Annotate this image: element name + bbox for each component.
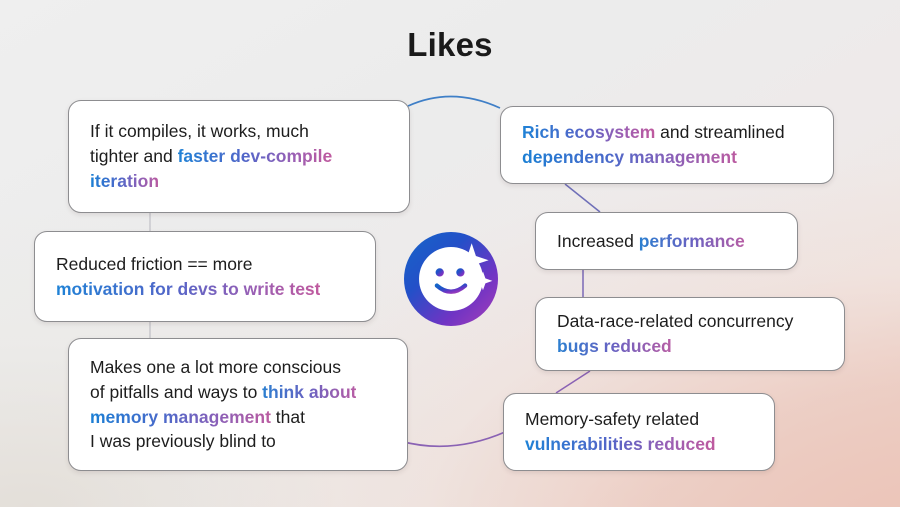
card-friction-line1: Reduced friction == more [56, 254, 253, 274]
card-conscious-highlight2: memory management [90, 407, 271, 427]
card-ecosystem-text: Rich ecosystem and streamlined dependenc… [522, 120, 785, 170]
connector-datarace-memsafety [556, 371, 590, 393]
card-ecosystem-highlight2: dependency management [522, 147, 737, 167]
card-compiles-highlight2: iteration [90, 171, 159, 191]
card-conscious-line1: Makes one a lot more conscious [90, 357, 341, 377]
card-ecosystem-line1-plain: and streamlined [655, 122, 784, 142]
card-ecosystem-highlight1: Rich ecosystem [522, 122, 655, 142]
slide-canvas: Likes If it compiles, it works, much tig… [0, 0, 900, 507]
card-compiles-text: If it compiles, it works, much tighter a… [90, 119, 332, 194]
connector-top-arc [408, 96, 500, 108]
card-conscious-text: Makes one a lot more conscious of pitfal… [90, 355, 356, 454]
card-compiles[interactable]: If it compiles, it works, much tighter a… [68, 100, 410, 213]
connector-ecosystem-performance [565, 184, 600, 212]
card-conscious[interactable]: Makes one a lot more conscious of pitfal… [68, 338, 408, 471]
connector-bottom-arc [400, 432, 505, 446]
card-ecosystem[interactable]: Rich ecosystem and streamlined dependenc… [500, 106, 834, 184]
card-datarace-text: Data-race-related concurrency bugs reduc… [557, 309, 793, 359]
card-compiles-highlight1: faster dev-compile [178, 146, 333, 166]
card-conscious-line4: I was previously blind to [90, 431, 276, 451]
card-performance-plain: Increased [557, 231, 639, 251]
card-performance[interactable]: Increased performance [535, 212, 798, 270]
card-friction[interactable]: Reduced friction == more motivation for … [34, 231, 376, 322]
card-compiles-line1: If it compiles, it works, much [90, 121, 309, 141]
card-performance-text: Increased performance [557, 229, 745, 254]
card-conscious-highlight1: think about [262, 382, 356, 402]
card-compiles-line2-plain: tighter and [90, 146, 178, 166]
card-datarace-highlight: bugs reduced [557, 336, 672, 356]
card-datarace-line1: Data-race-related concurrency [557, 311, 793, 331]
card-conscious-line3-plain: that [271, 407, 305, 427]
card-memsafety-line1: Memory-safety related [525, 409, 699, 429]
card-friction-text: Reduced friction == more motivation for … [56, 252, 320, 302]
card-friction-highlight1: motivation for devs to write test [56, 279, 320, 299]
card-conscious-line2-plain: of pitfalls and ways to [90, 382, 262, 402]
card-memsafety[interactable]: Memory-safety related vulnerabilities re… [503, 393, 775, 471]
smiling-face-sparkle-avatar-icon [404, 232, 498, 326]
card-memsafety-text: Memory-safety related vulnerabilities re… [525, 407, 716, 457]
card-memsafety-highlight: vulnerabilities reduced [525, 434, 716, 454]
card-datarace[interactable]: Data-race-related concurrency bugs reduc… [535, 297, 845, 371]
card-performance-highlight: performance [639, 231, 745, 251]
